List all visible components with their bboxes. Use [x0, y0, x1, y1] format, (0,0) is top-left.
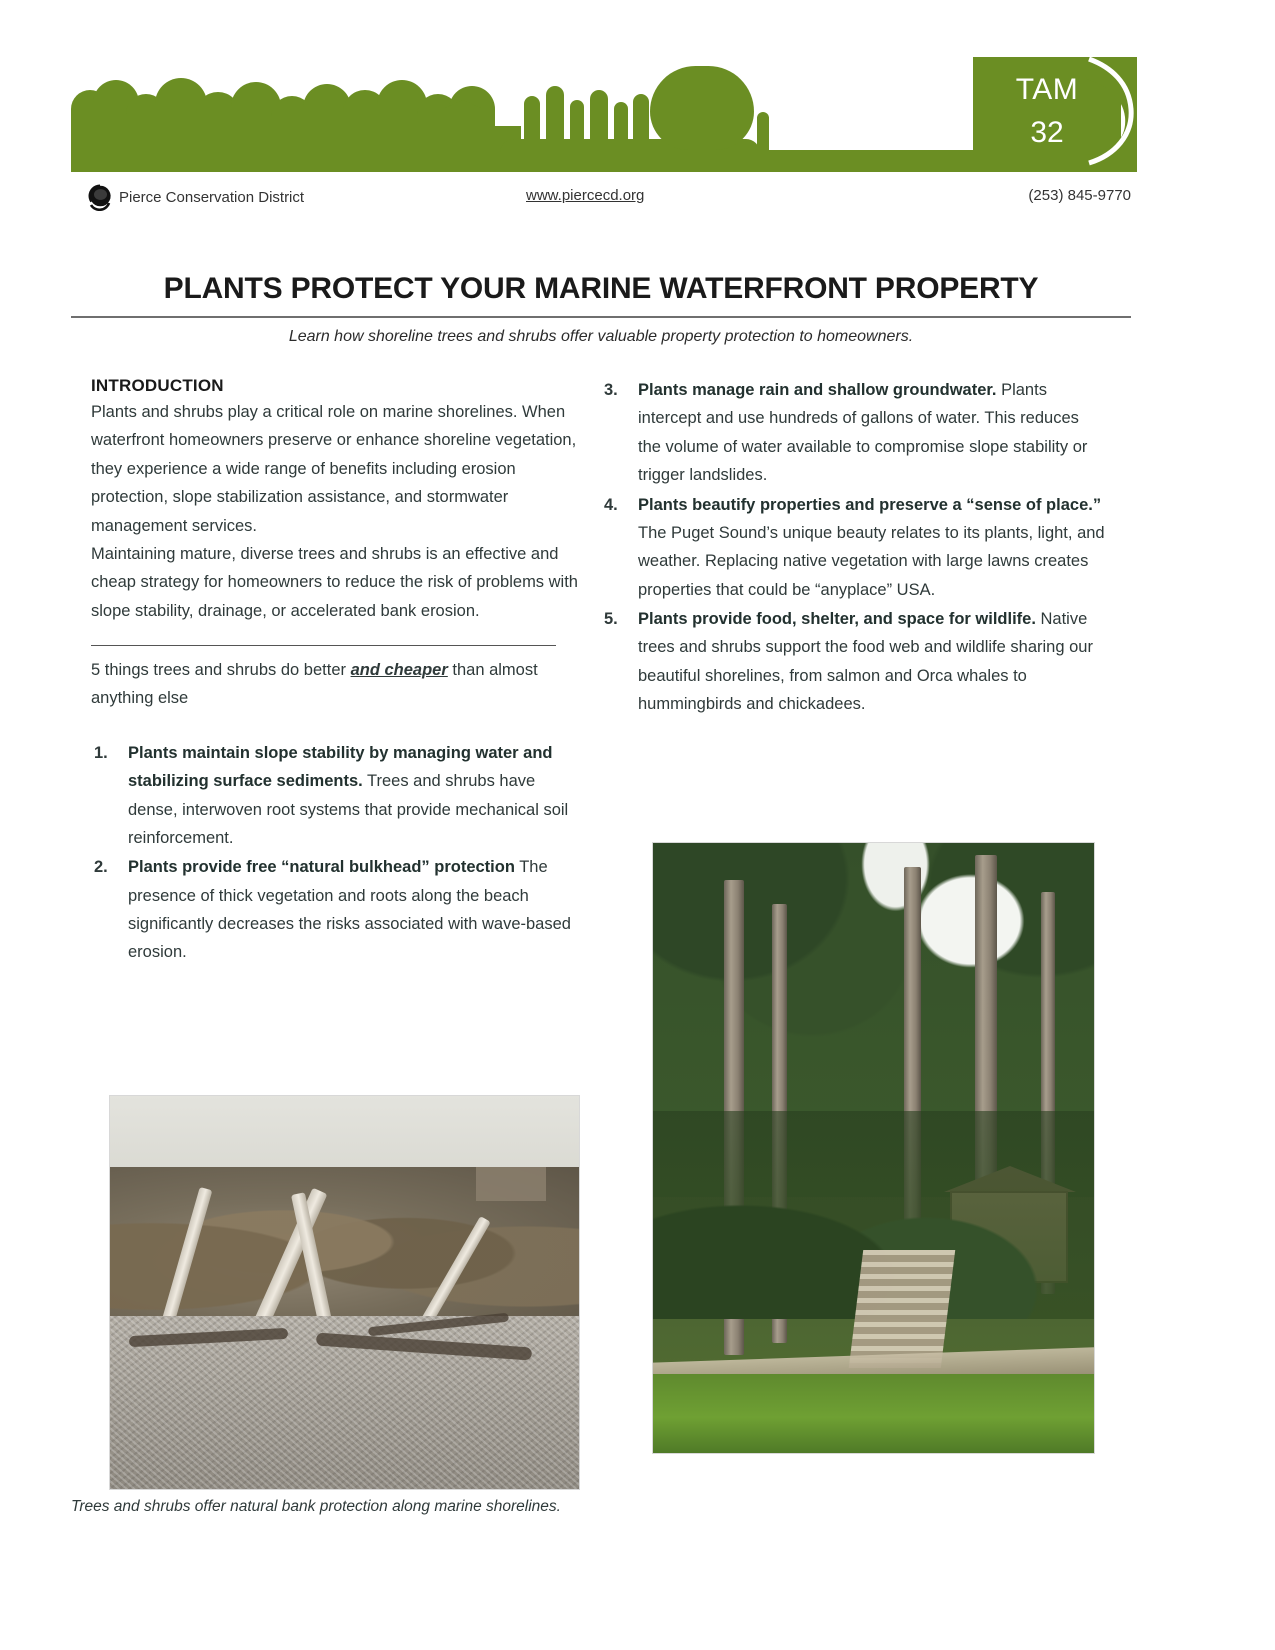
photo-house [476, 1167, 546, 1201]
list-item: 1.Plants maintain slope stability by man… [91, 739, 581, 853]
photo-wooden-stairs [849, 1250, 955, 1368]
small-tree-icon [757, 112, 769, 152]
benefits-list-left: 1.Plants maintain slope stability by man… [91, 739, 581, 967]
list-item: 2.Plants provide free “natural bulkhead”… [91, 853, 581, 967]
list-item-number: 2. [94, 853, 108, 881]
title-block: PLANTS PROTECT YOUR MARINE WATERFRONT PR… [71, 272, 1131, 346]
left-column: INTRODUCTION Plants and shrubs play a cr… [91, 376, 581, 968]
list-item-body: The Puget Sound’s unique beauty relates … [638, 524, 1105, 599]
forest-slope-photo [652, 842, 1095, 1454]
small-tree-icon [570, 100, 584, 152]
photo-caption: Trees and shrubs offer natural bank prot… [71, 1498, 671, 1516]
small-tree-icon [590, 90, 608, 152]
list-item-lead: Plants manage rain and shallow groundwat… [638, 381, 997, 399]
page-subtitle: Learn how shoreline trees and shrubs off… [71, 328, 1131, 346]
lead-in-text: 5 things trees and shrubs do better and … [91, 656, 581, 713]
small-tree-icon [546, 86, 564, 152]
list-item: 3.Plants manage rain and shallow groundw… [601, 376, 1106, 490]
small-tree-icon [633, 94, 649, 152]
benefits-list-right: 3.Plants manage rain and shallow groundw… [601, 376, 1106, 719]
small-tree-icon [614, 102, 628, 152]
small-tree-icon [524, 96, 540, 152]
introduction-heading: INTRODUCTION [91, 376, 581, 396]
beach-bank-photo [109, 1095, 580, 1490]
title-divider [71, 316, 1131, 318]
website-link[interactable]: www.piercecd.org [526, 187, 644, 204]
pcd-swirl-logo-icon [85, 183, 117, 211]
list-item-lead: Plants beautify properties and preserve … [638, 496, 1101, 514]
list-item-number: 3. [604, 376, 618, 404]
phone-number: (253) 845-9770 [1028, 187, 1131, 204]
house-silhouette [432, 108, 494, 152]
banner-green-strip [71, 150, 973, 172]
lead-in-emphasis: and cheaper [351, 661, 448, 679]
lead-in-divider [91, 645, 556, 646]
list-item-lead: Plants provide free “natural bulkhead” p… [128, 858, 515, 876]
large-tree-trunk [697, 120, 706, 156]
swoosh-icon [1085, 57, 1137, 172]
organization-name: Pierce Conservation District [119, 189, 304, 206]
lead-in-before: 5 things trees and shrubs do better [91, 661, 351, 679]
list-item: 5.Plants provide food, shelter, and spac… [601, 605, 1106, 719]
list-item-number: 4. [604, 491, 618, 519]
list-item: 4.Plants beautify properties and preserv… [601, 491, 1106, 605]
introduction-paragraph-1: Plants and shrubs play a critical role o… [91, 398, 581, 540]
list-item-number: 5. [604, 605, 618, 633]
header-info-row: Pierce Conservation District www.piercec… [71, 183, 1131, 213]
page-title: PLANTS PROTECT YOUR MARINE WATERFRONT PR… [71, 272, 1131, 306]
organization-group: Pierce Conservation District [85, 183, 304, 211]
photo-lawn [653, 1374, 1094, 1453]
list-item-number: 1. [94, 739, 108, 767]
introduction-paragraph-2: Maintaining mature, diverse trees and sh… [91, 540, 581, 625]
right-column: 3.Plants manage rain and shallow groundw… [601, 376, 1106, 720]
list-item-lead: Plants provide food, shelter, and space … [638, 610, 1036, 628]
